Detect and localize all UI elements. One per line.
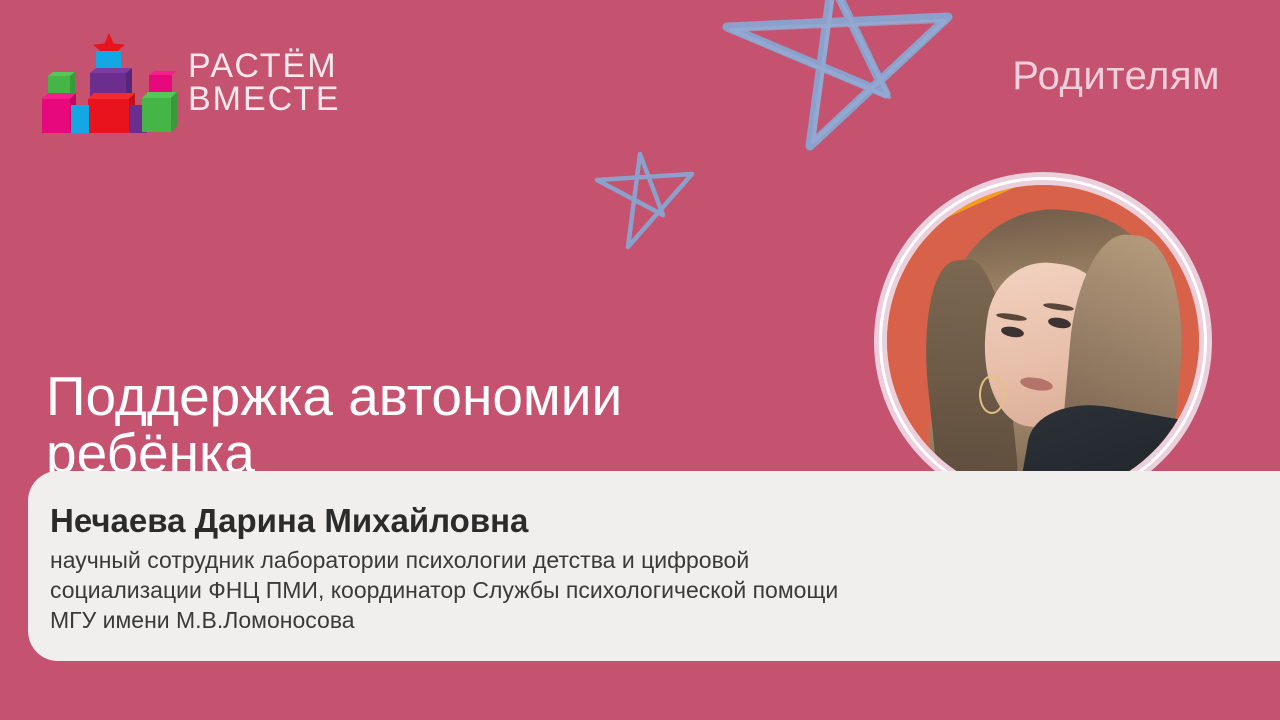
page-title: Поддержка автономии ребёнка	[46, 368, 836, 482]
speaker-description: научный сотрудник лаборатории психологии…	[50, 545, 1210, 635]
speaker-info-card: Нечаева Дарина Михайловна научный сотруд…	[28, 471, 1280, 661]
hand-drawn-star-small-icon	[588, 148, 703, 258]
logo-wordmark-line2: ВМЕСТЕ	[188, 83, 341, 116]
logo-wordmark-line1: РАСТЁМ	[188, 47, 338, 85]
logo-blocks-illustration	[38, 31, 178, 136]
audience-label: Родителям	[1012, 56, 1220, 96]
avatar-photo	[887, 185, 1199, 497]
brand-logo: РАСТЁМ ВМЕСТЕ	[38, 28, 348, 138]
portrait-earring-left	[979, 375, 1005, 413]
logo-wordmark: РАСТЁМ ВМЕСТЕ	[188, 50, 341, 117]
hand-drawn-star-large-icon	[700, 0, 990, 188]
speaker-name: Нечаева Дарина Михайловна	[50, 503, 1240, 539]
presentation-slide: РАСТЁМ ВМЕСТЕ Родителям Поддержка автоно…	[0, 0, 1280, 720]
speaker-avatar	[874, 172, 1212, 510]
logo-cubes-icon	[38, 31, 178, 136]
